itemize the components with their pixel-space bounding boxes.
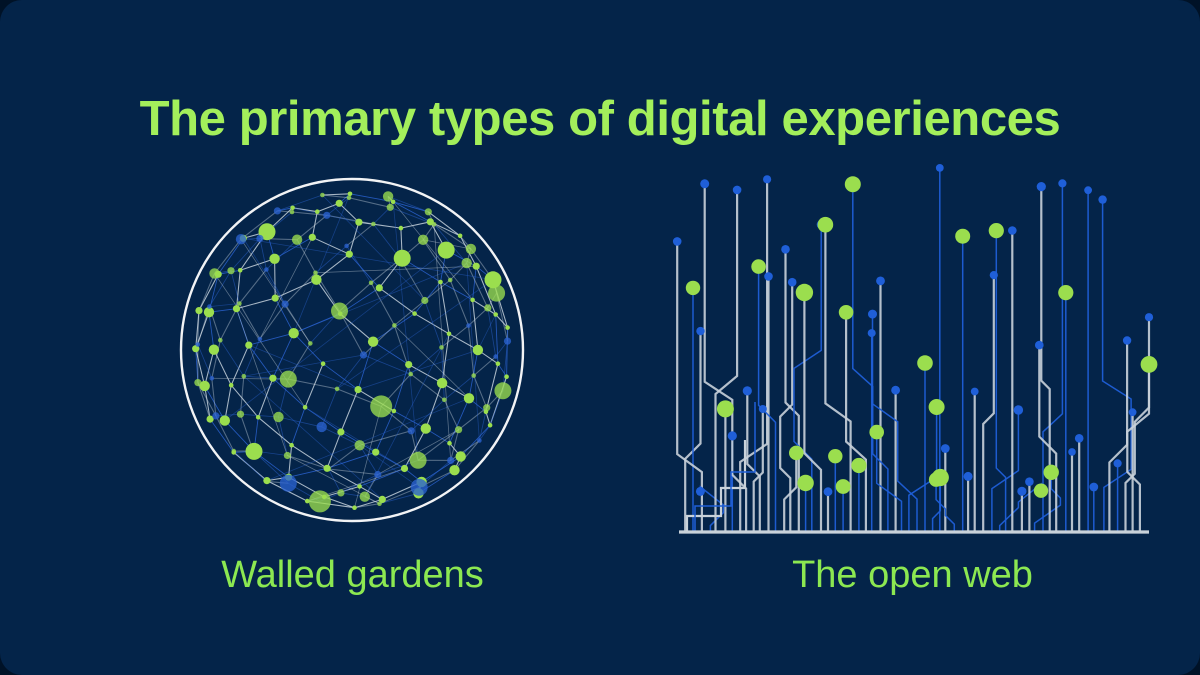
page-title: The primary types of digital experiences: [0, 93, 1200, 146]
panel-walled-gardens: Walled gardens: [40, 150, 665, 620]
caption-open-web: The open web: [665, 555, 1160, 597]
slide-canvas: The primary types of digital experiences…: [0, 0, 1200, 675]
caption-walled-gardens: Walled gardens: [40, 555, 665, 597]
panel-open-web: The open web: [665, 150, 1160, 620]
network-sphere-graphic: [40, 150, 665, 550]
circuit-traces-graphic: [665, 150, 1160, 550]
circuit-traces-figure: [665, 150, 1160, 550]
network-sphere-figure: [40, 150, 665, 550]
